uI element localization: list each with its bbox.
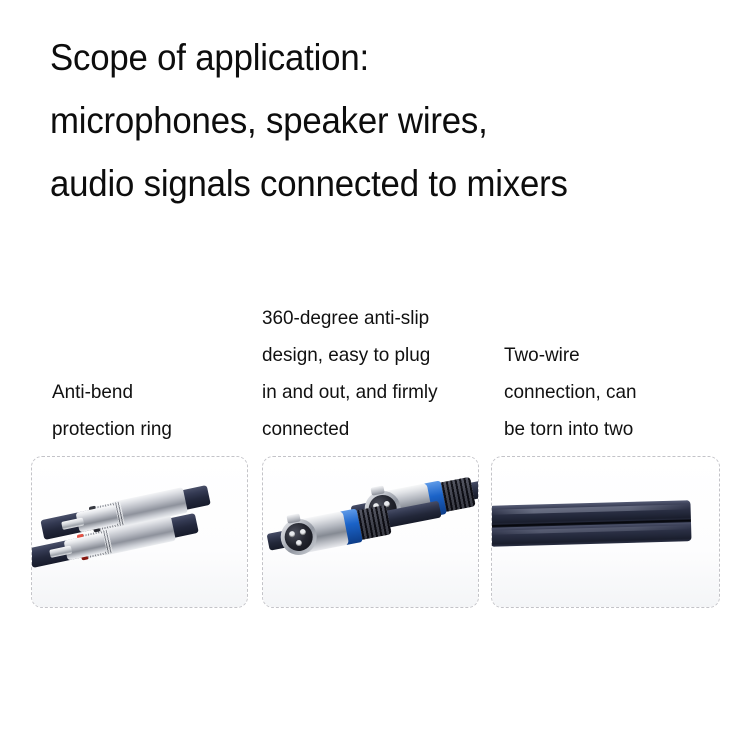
feature-column-two-wire: Two-wire connection, can be torn into tw… bbox=[491, 270, 720, 615]
feature-caption-anti-bend: Anti-bend protection ring bbox=[52, 374, 256, 448]
feature-caption-anti-slip: 360-degree anti-slip design, easy to plu… bbox=[262, 300, 471, 448]
twin-cable bbox=[491, 500, 692, 547]
xlr-pin-hole bbox=[299, 529, 306, 536]
xlr-connector-front bbox=[280, 523, 286, 556]
caption-line: be torn into two bbox=[504, 411, 713, 448]
feature-photo-panel-xlr bbox=[262, 456, 479, 608]
caption-line: design, easy to plug bbox=[262, 337, 471, 374]
caption-line: Two-wire bbox=[504, 337, 713, 374]
photo-backdrop bbox=[263, 457, 478, 607]
xlr-pin-hole bbox=[295, 540, 302, 547]
photo-backdrop bbox=[32, 457, 247, 607]
caption-line: Anti-bend bbox=[52, 374, 256, 411]
feature-columns: Anti-bend protection ring bbox=[0, 270, 750, 615]
page-title-line-2: microphones, speaker wires, bbox=[50, 89, 699, 152]
page-title: Scope of application: microphones, speak… bbox=[50, 26, 740, 215]
caption-line: 360-degree anti-slip bbox=[262, 300, 471, 337]
caption-line: in and out, and firmly bbox=[262, 374, 471, 411]
rca-connector-red bbox=[47, 541, 52, 566]
rca-connector-black bbox=[59, 513, 64, 538]
page-title-line-1: Scope of application: bbox=[50, 26, 699, 89]
caption-line: connection, can bbox=[504, 374, 713, 411]
caption-line: protection ring bbox=[52, 411, 256, 448]
photo-backdrop bbox=[492, 457, 719, 607]
feature-column-anti-bend: Anti-bend protection ring bbox=[31, 270, 248, 615]
feature-photo-panel-rca bbox=[31, 456, 248, 608]
feature-caption-two-wire: Two-wire connection, can be torn into tw… bbox=[504, 337, 713, 448]
xlr-pin-hole bbox=[289, 531, 296, 538]
feature-column-anti-slip: 360-degree anti-slip design, easy to plu… bbox=[262, 270, 479, 615]
page-title-line-3: audio signals connected to mixers bbox=[50, 152, 699, 215]
caption-line: connected bbox=[262, 411, 471, 448]
xlr-socket bbox=[282, 521, 315, 554]
feature-photo-panel-twin-cable bbox=[491, 456, 720, 608]
